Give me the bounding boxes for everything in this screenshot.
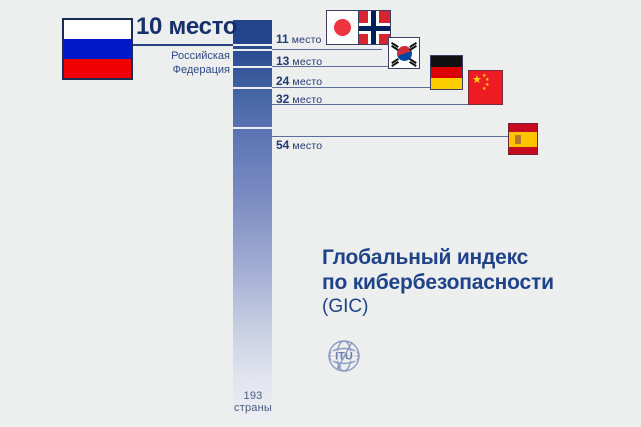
russia-name-line2: Федерация <box>120 63 230 77</box>
leader-line-russia <box>133 44 233 46</box>
south-korea-flag <box>388 37 420 69</box>
spain-coat-of-arms <box>515 135 521 144</box>
rank-label-54: 54 место <box>276 139 322 152</box>
ranking-scale-bar <box>233 20 272 420</box>
rank-number-11: 11 <box>276 32 289 46</box>
rank-word-32: место <box>292 94 322 106</box>
russia-country-name: Российская Федерация <box>120 49 230 77</box>
rank-number-24: 24 <box>276 74 289 88</box>
flag-band-gold <box>431 78 462 89</box>
scale-total-number: 193 <box>226 390 280 402</box>
leader-line-rank-54 <box>272 136 509 137</box>
scale-total-unit: страны <box>226 402 280 414</box>
scale-divider-13 <box>233 66 272 68</box>
flag-band-red <box>509 124 537 132</box>
scale-divider-11 <box>233 49 272 51</box>
rank-word-13: место <box>292 56 322 68</box>
title-abbreviation: (GIC) <box>322 295 622 319</box>
itu-logo: ITU <box>322 334 366 378</box>
rank-number-32: 32 <box>276 92 289 106</box>
norway-flag <box>358 10 391 45</box>
russia-rank-label: 10 место <box>136 13 237 41</box>
spain-flag <box>508 123 538 155</box>
flag-band-black <box>431 56 462 67</box>
rank-word-11: место <box>292 34 322 46</box>
title-line-2: по кибербезопасности <box>322 270 622 295</box>
flag-band-yellow <box>509 132 537 147</box>
rank-label-13: 13 место <box>276 55 322 68</box>
scale-divider-10 <box>233 44 272 46</box>
norway-cross-blue-horizontal <box>359 26 390 31</box>
rank-label-11: 11 место <box>276 33 322 46</box>
rank-label-32: 32 место <box>276 93 322 106</box>
rank-word-54: место <box>292 140 322 152</box>
flag-band-white <box>64 20 131 39</box>
infographic-canvas: 193 страны 10 место Российская Федерация… <box>0 0 641 427</box>
scale-total: 193 страны <box>226 390 280 414</box>
china-flag: ★ ★ ★ ★ ★ <box>468 70 503 105</box>
rank-word-24: место <box>292 76 322 88</box>
title-line-1: Глобальный индекс <box>322 246 528 269</box>
flag-band-red <box>431 67 462 78</box>
japan-flag <box>326 10 359 45</box>
japan-sun-disc <box>334 19 351 36</box>
scale-divider-24 <box>233 87 272 89</box>
germany-flag <box>430 55 463 90</box>
leader-line-rank-11 <box>272 49 382 50</box>
rank-number-13: 13 <box>276 54 289 68</box>
flag-band-red <box>509 147 537 155</box>
russia-name-line1: Российская <box>120 49 230 63</box>
scale-divider-32 <box>233 127 272 129</box>
china-small-star: ★ <box>482 87 486 92</box>
rank-label-24: 24 место <box>276 75 322 88</box>
china-large-star: ★ <box>472 75 482 86</box>
rank-number-54: 54 <box>276 138 289 152</box>
page-title: Глобальный индекс по кибербезопасности (… <box>322 245 622 319</box>
